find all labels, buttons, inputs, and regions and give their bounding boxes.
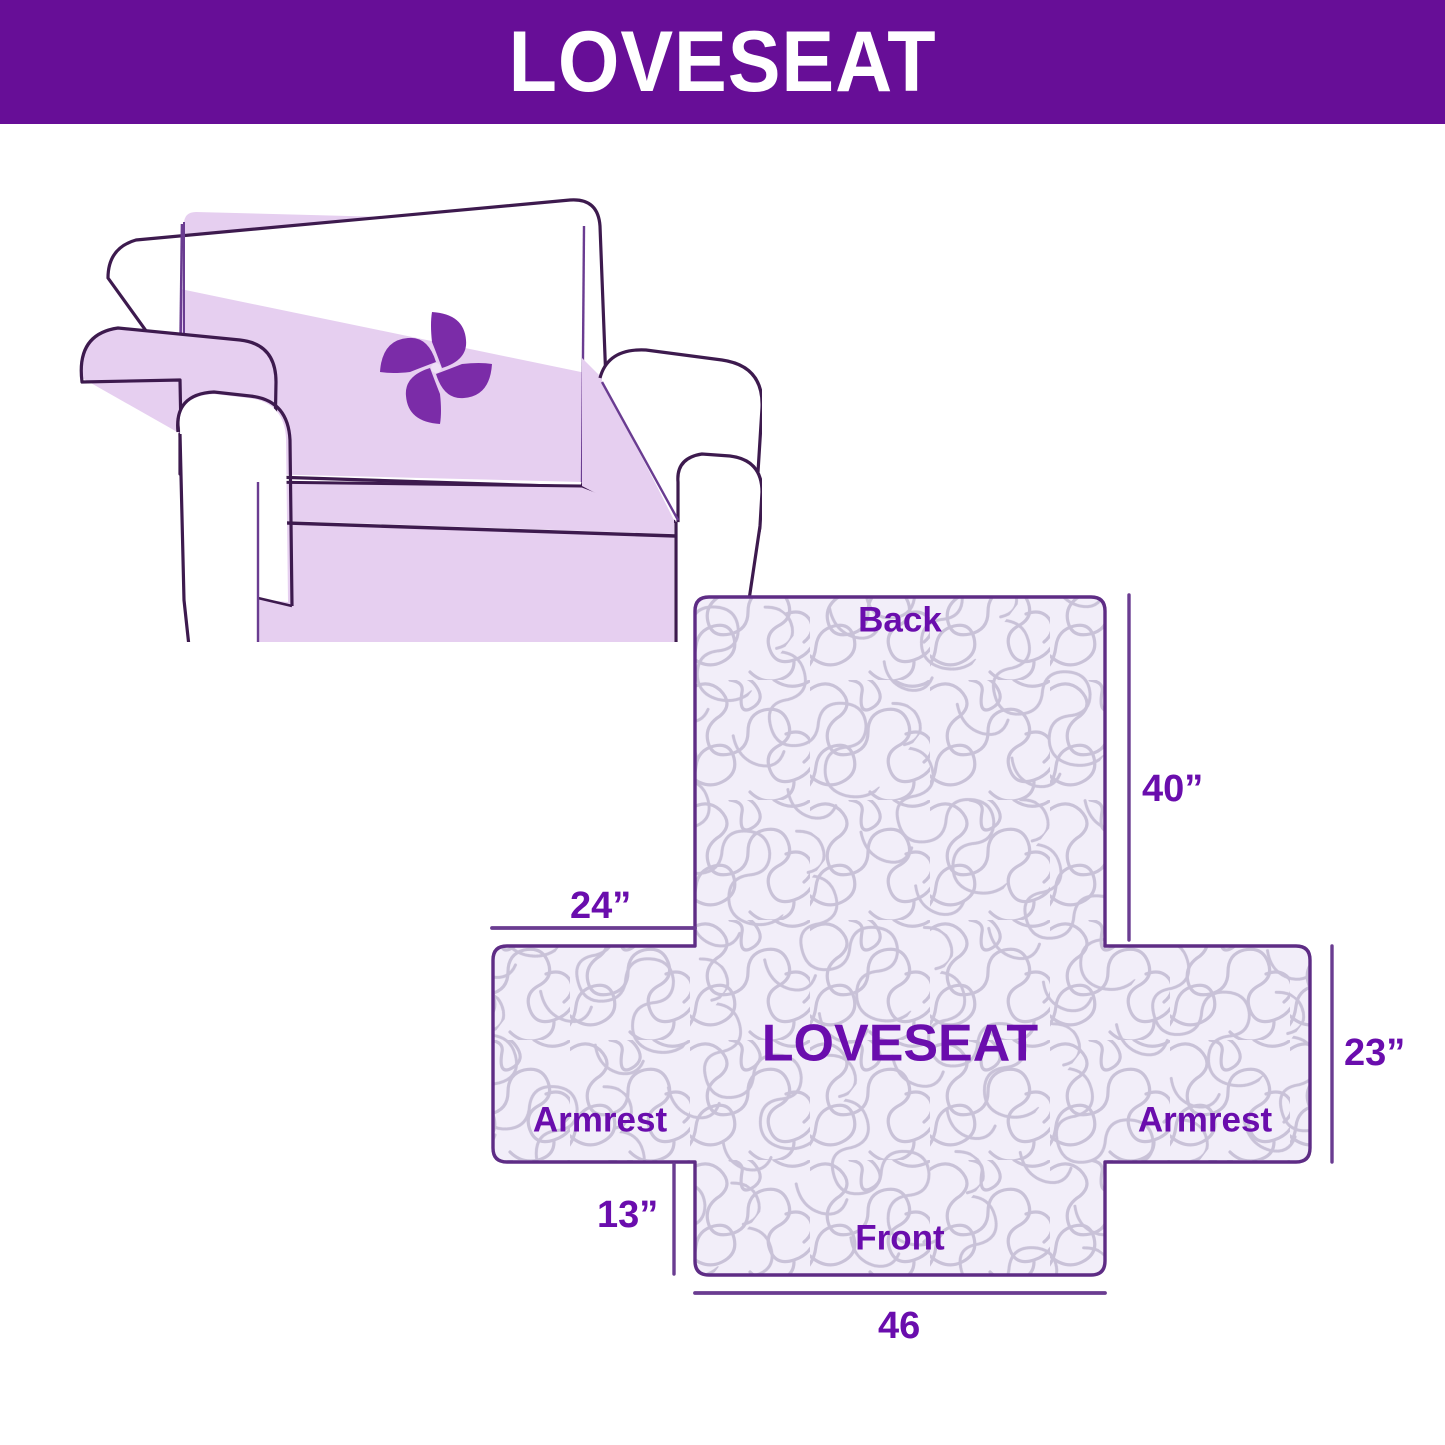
dimension-label-back-height: 40”	[1142, 768, 1203, 811]
panel-label-armrest-left: Armrest	[533, 1100, 668, 1139]
dimension-label-armrest-depth: 23”	[1344, 1032, 1405, 1075]
panel-label-back: Back	[858, 600, 942, 639]
dimension-label-armrest-width: 24”	[570, 885, 631, 928]
panel-label-armrest-right: Armrest	[1138, 1100, 1273, 1139]
page-title: LOVESEAT	[509, 19, 937, 105]
dimension-label-seat-width: 46	[878, 1305, 920, 1348]
cover-diagram-title: LOVESEAT	[762, 1015, 1039, 1073]
panel-label-front: Front	[855, 1218, 945, 1257]
cover-diagram-svg: Back Armrest Armrest Front LOVESEAT	[450, 560, 1445, 1370]
header-banner: LOVESEAT	[0, 0, 1445, 124]
dimension-label-front-height: 13”	[597, 1194, 658, 1237]
cover-dimension-diagram: Back Armrest Armrest Front LOVESEAT 40” …	[450, 560, 1445, 1370]
cover-panel-back-texture	[695, 597, 1105, 967]
cover-shape-group	[493, 597, 1310, 1275]
